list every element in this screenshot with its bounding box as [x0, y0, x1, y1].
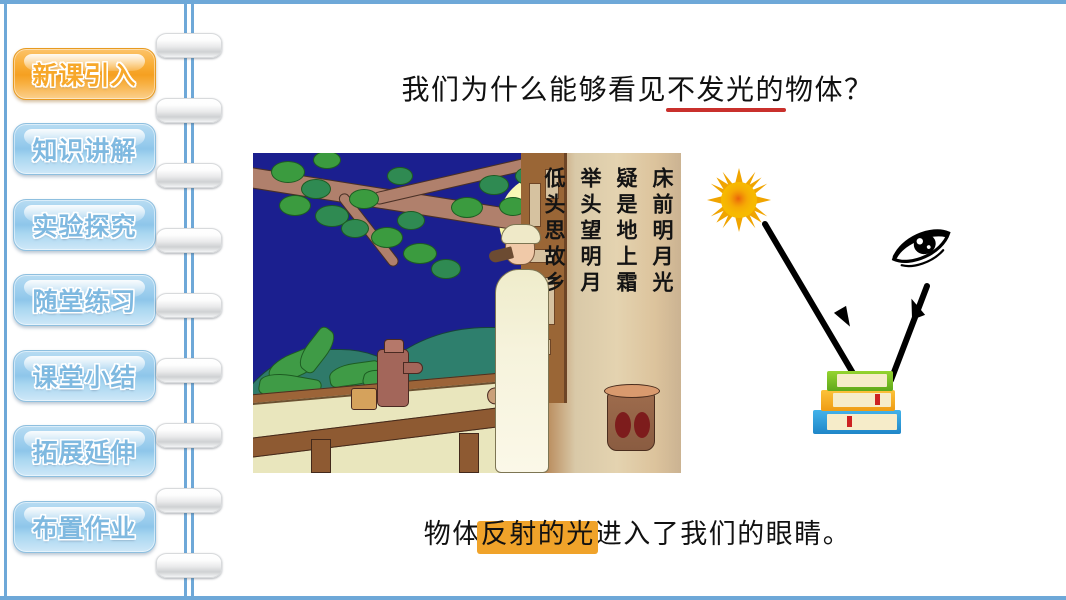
leaf-shape — [341, 219, 369, 238]
content-area: 我们为什么能够看见不发光的物体？ — [215, 0, 1060, 600]
book-stack-icon — [813, 366, 905, 438]
poem-illustration: 床前明月光 疑是地上霜 举头望明月 低头思故乡 — [253, 153, 681, 473]
binding-ring-icon — [156, 293, 222, 318]
bookmark — [875, 394, 880, 405]
leaf-shape — [403, 243, 437, 264]
sidebar-item-label: 课堂小结 — [32, 358, 136, 394]
lattice-bar — [529, 183, 541, 227]
book-pages — [833, 393, 891, 407]
frame-left-rule — [4, 4, 7, 596]
sidebar-item-label: 拓展延伸 — [32, 433, 136, 469]
sidebar-item-label: 实验探究 — [32, 207, 136, 243]
light-reflection-diagram — [695, 150, 1035, 480]
jar-panel — [615, 412, 631, 438]
poem-line: 床前明月光 — [652, 167, 673, 297]
sidebar-item-label: 随堂练习 — [32, 282, 136, 318]
binding-ring-icon — [156, 228, 222, 253]
incident-light-arrow — [765, 224, 857, 380]
binding-ring-icon — [156, 98, 222, 123]
leaf-shape — [431, 259, 461, 279]
poem-line: 举头望明月 — [580, 167, 601, 297]
leaf-shape — [371, 227, 403, 248]
leaf-shape — [397, 211, 425, 230]
leaf-shape — [387, 167, 413, 185]
table-leg — [311, 439, 331, 473]
caption-suffix: 进入了我们的眼睛。 — [595, 519, 852, 550]
jar-lid — [604, 384, 660, 398]
leaf-shape — [279, 195, 311, 216]
slide-canvas: 新课引入 知识讲解 实验探究 随堂练习 课堂小结 拓展延伸 布置作业 — [0, 0, 1066, 600]
figure-headwrap — [501, 224, 541, 244]
binding-ring-icon — [156, 423, 222, 448]
binding-ring-icon — [156, 488, 222, 513]
leaf-shape — [479, 175, 509, 195]
book-pages — [837, 374, 887, 387]
binding-ring-icon — [156, 163, 222, 188]
sidebar-item-homework[interactable]: 布置作业 — [13, 501, 156, 553]
sidebar-nav: 新课引入 知识讲解 实验探究 随堂练习 课堂小结 拓展延伸 布置作业 — [10, 0, 170, 600]
teapot — [377, 349, 409, 407]
book-pages — [827, 414, 897, 430]
teacup — [351, 388, 377, 410]
poem-line: 疑是地上霜 — [616, 167, 637, 297]
leaf-shape — [451, 197, 483, 218]
jar-panel — [634, 412, 650, 438]
binding-ring-icon — [156, 358, 222, 383]
caption-highlight-phrase: 反射的光 — [481, 519, 595, 550]
figure-robe — [495, 269, 549, 473]
sidebar-item-label: 知识讲解 — [32, 131, 136, 167]
poet-figure — [493, 223, 551, 473]
sidebar-item-extension[interactable]: 拓展延伸 — [13, 425, 156, 477]
title-suffix: 物体？ — [785, 73, 874, 106]
leaf-shape — [301, 179, 331, 199]
bookmark — [847, 416, 852, 427]
title-prefix: 我们为什么能够看见 — [401, 73, 667, 106]
binding-ring-icon — [156, 553, 222, 578]
leaf-shape — [271, 161, 305, 183]
sidebar-item-experiment[interactable]: 实验探究 — [13, 199, 156, 251]
table-leg — [459, 433, 479, 473]
ceramic-jar — [607, 391, 655, 451]
sidebar-item-knowledge[interactable]: 知识讲解 — [13, 123, 156, 175]
sidebar-item-practice[interactable]: 随堂练习 — [13, 274, 156, 326]
title-underlined-phrase: 不发光的 — [667, 73, 785, 106]
conclusion-caption: 物体反射的光进入了我们的眼睛。 — [215, 512, 1060, 551]
binding-ring-icon — [156, 33, 222, 58]
incident-arrowhead — [834, 306, 856, 330]
sidebar-item-label: 布置作业 — [32, 509, 136, 545]
caption-prefix: 物体 — [424, 519, 481, 550]
page-title: 我们为什么能够看见不发光的物体？ — [215, 68, 1060, 108]
sidebar-item-summary[interactable]: 课堂小结 — [13, 350, 156, 402]
leaf-shape — [349, 189, 379, 209]
sidebar-item-label: 新课引入 — [32, 56, 136, 92]
spiral-binding — [178, 0, 202, 600]
sidebar-item-new-lesson[interactable]: 新课引入 — [13, 48, 156, 100]
